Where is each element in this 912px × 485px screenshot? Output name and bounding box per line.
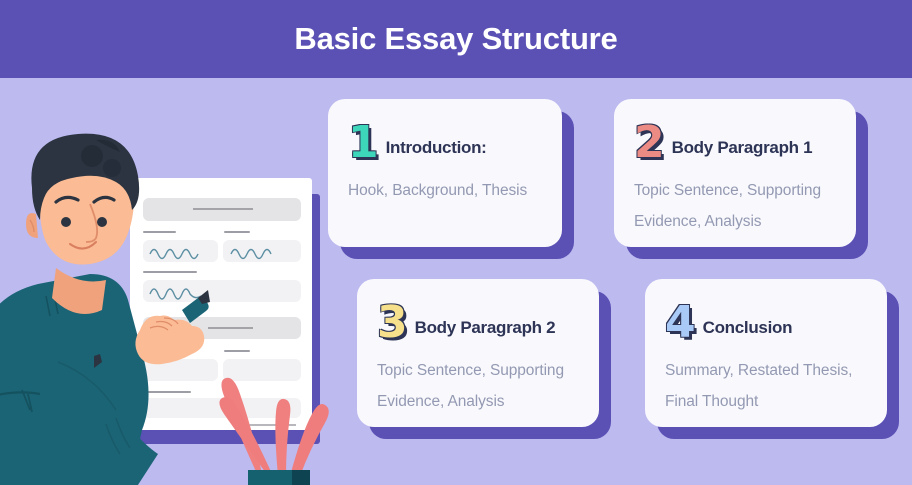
- card-2-title: Body Paragraph 1: [672, 138, 813, 158]
- card-conclusion[interactable]: 4 Conclusion Summary, Restated Thesis, F…: [645, 279, 887, 427]
- header-banner: Basic Essay Structure: [0, 0, 912, 78]
- card-3-body: Topic Sentence, Supporting Evidence, Ana…: [377, 355, 579, 417]
- card-3-header: 3 Body Paragraph 2: [377, 297, 579, 349]
- card-1-number: 1: [348, 121, 378, 165]
- card-4-number: 4: [665, 301, 695, 345]
- card-2-number: 2: [634, 121, 664, 165]
- student-writing-illustration: [0, 78, 345, 485]
- card-1-header: 1 Introduction:: [348, 117, 542, 169]
- card-body-paragraph-2[interactable]: 3 Body Paragraph 2 Topic Sentence, Suppo…: [357, 279, 599, 427]
- card-4-title: Conclusion: [703, 318, 793, 338]
- card-2-header: 2 Body Paragraph 1: [634, 117, 836, 169]
- card-2-body: Topic Sentence, Supporting Evidence, Ana…: [634, 175, 836, 237]
- infographic-canvas: Basic Essay Structure: [0, 0, 912, 485]
- card-body-paragraph-1[interactable]: 2 Body Paragraph 1 Topic Sentence, Suppo…: [614, 99, 856, 247]
- card-introduction[interactable]: 1 Introduction: Hook, Background, Thesis: [328, 99, 562, 247]
- card-3-number: 3: [377, 301, 407, 345]
- card-1-title: Introduction:: [386, 138, 487, 158]
- card-3-title: Body Paragraph 2: [415, 318, 556, 338]
- card-4-header: 4 Conclusion: [665, 297, 867, 349]
- card-1-body: Hook, Background, Thesis: [348, 175, 542, 206]
- card-4-body: Summary, Restated Thesis, Final Thought: [665, 355, 867, 417]
- page-title: Basic Essay Structure: [294, 21, 617, 57]
